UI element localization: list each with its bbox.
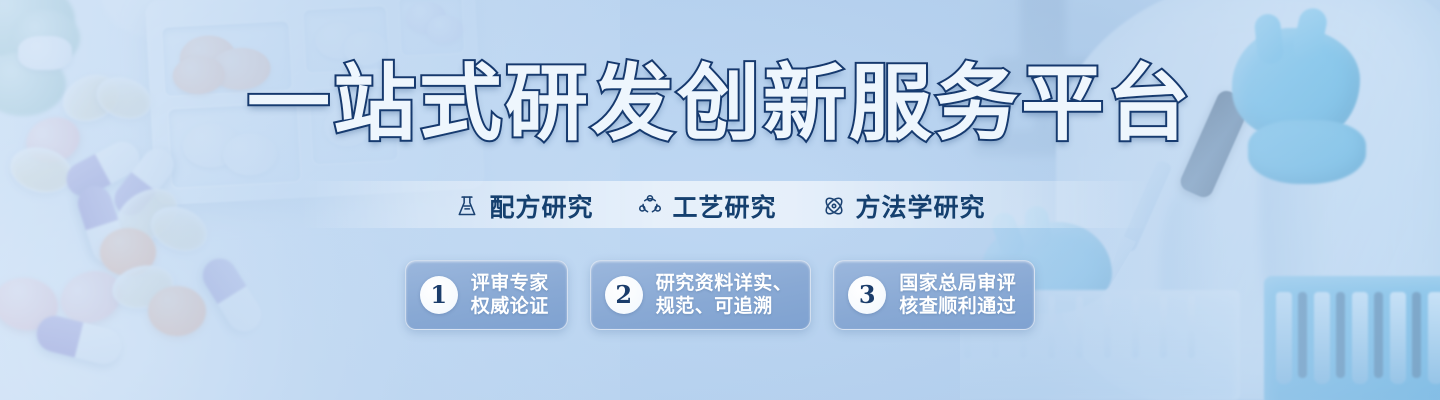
service-item-process[interactable]: 工艺研究 xyxy=(637,188,776,224)
service-label: 工艺研究 xyxy=(672,188,776,224)
feature-text: 研究资料详实、 规范、可追溯 xyxy=(656,272,793,318)
service-list: 配方研究 工艺研究 xyxy=(0,186,1440,226)
service-item-methodology[interactable]: 方法学研究 xyxy=(821,188,986,224)
atom-icon xyxy=(821,193,847,219)
feature-line-2: 核查顺利通过 xyxy=(899,295,1016,318)
promo-banner: 一站式研发创新服务平台 配方研究 xyxy=(0,0,1440,400)
feature-card[interactable]: 2 研究资料详实、 规范、可追溯 xyxy=(590,260,812,330)
headline-text: 一站式研发创新服务平台 xyxy=(247,55,1193,152)
feature-card[interactable]: 3 国家总局审评 核查顺利通过 xyxy=(833,260,1035,330)
feature-number: 3 xyxy=(848,276,886,314)
feature-card[interactable]: 1 评审专家 权威论证 xyxy=(405,260,568,330)
feature-text: 国家总局审评 核查顺利通过 xyxy=(899,272,1016,318)
feature-line-1: 评审专家 xyxy=(471,272,549,295)
feature-card-list: 1 评审专家 权威论证 2 研究资料详实、 规范、可追溯 3 国家总局审评 核查… xyxy=(0,260,1440,330)
feature-line-1: 研究资料详实、 xyxy=(656,272,793,295)
feature-number: 1 xyxy=(420,276,458,314)
banner-headline: 一站式研发创新服务平台 xyxy=(0,62,1440,147)
service-label: 方法学研究 xyxy=(856,188,986,224)
feature-text: 评审专家 权威论证 xyxy=(471,272,549,318)
feature-line-1: 国家总局审评 xyxy=(899,272,1016,295)
feature-line-2: 规范、可追溯 xyxy=(656,295,793,318)
feature-line-2: 权威论证 xyxy=(471,295,549,318)
service-item-formulation[interactable]: 配方研究 xyxy=(454,188,593,224)
feature-number: 2 xyxy=(605,276,643,314)
flask-icon xyxy=(454,193,480,219)
service-label: 配方研究 xyxy=(489,188,593,224)
molecule-icon xyxy=(637,193,663,219)
banner-content: 一站式研发创新服务平台 配方研究 xyxy=(0,0,1440,400)
